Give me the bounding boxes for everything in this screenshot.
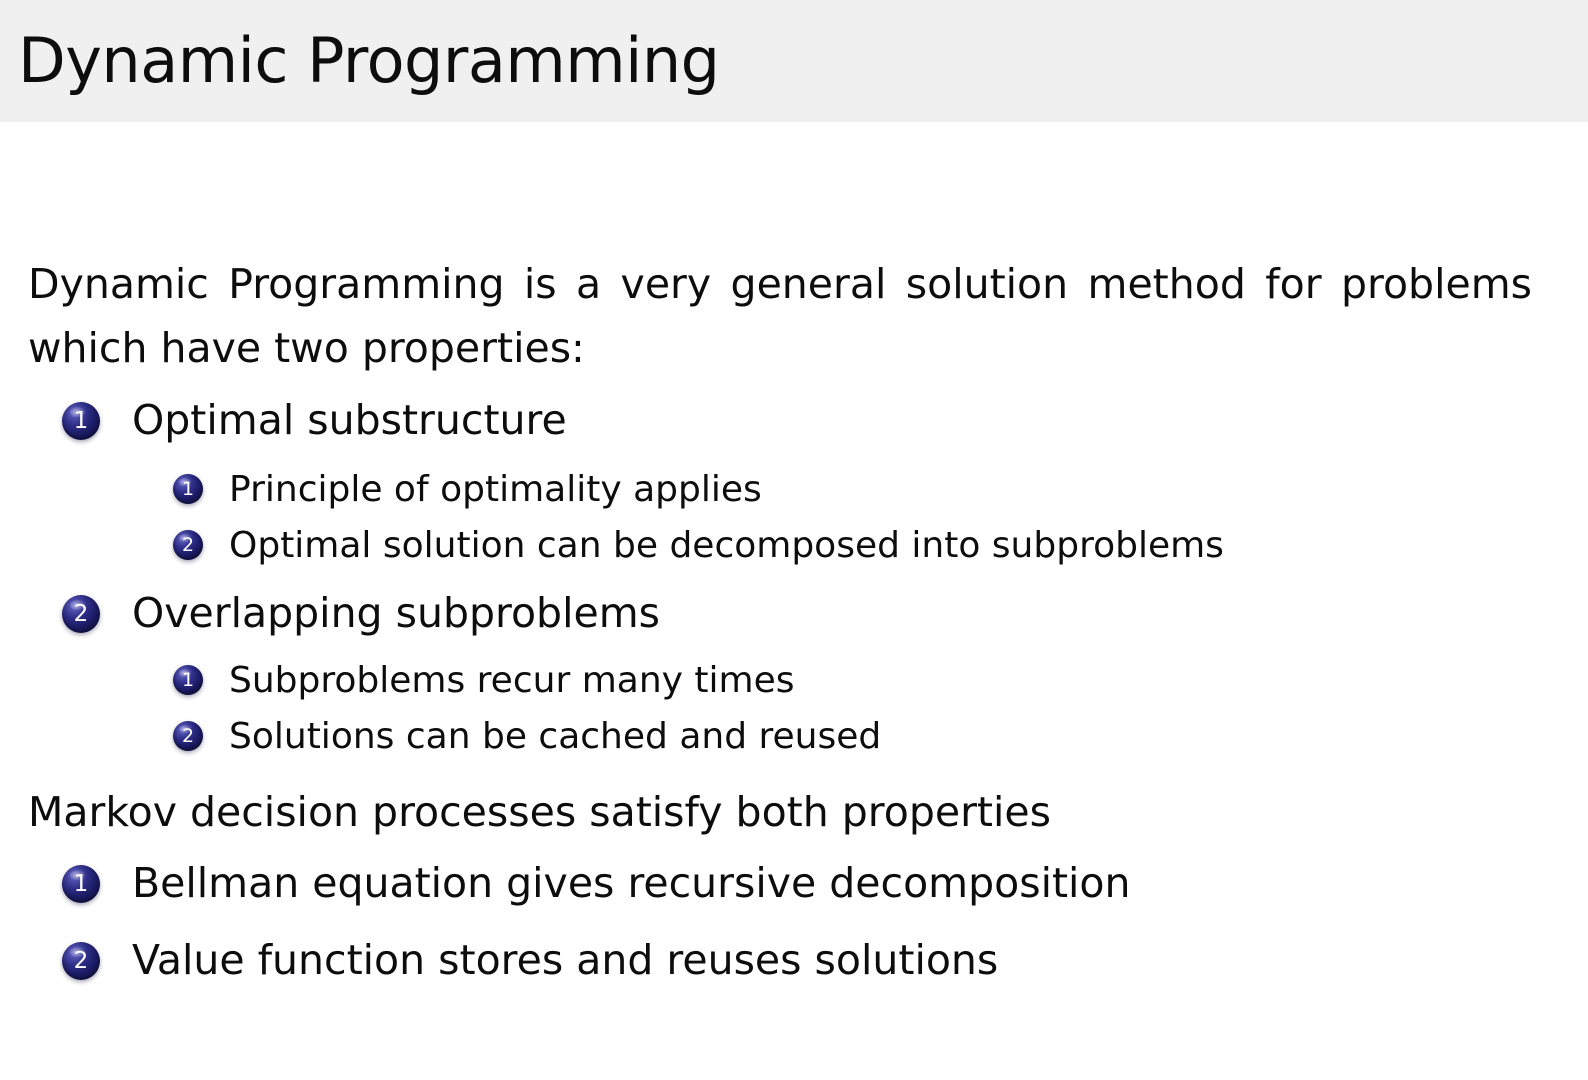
numbered-bullet-icon: 2 [173,530,203,560]
mdp-paragraph: Markov decision processes satisfy both p… [28,780,1532,844]
list-item: 2 Overlapping subproblems [62,587,660,639]
bullet-number: 2 [74,950,89,973]
numbered-bullet-icon: 1 [62,865,100,903]
list-item: 1 Optimal substructure [62,394,567,446]
list-item-label: Optimal solution can be decomposed into … [229,523,1224,568]
page-title: Dynamic Programming [18,18,720,104]
list-item-label: Principle of optimality applies [229,467,762,512]
list-item: 1 Bellman equation gives recursive decom… [62,857,1131,909]
numbered-bullet-icon: 1 [62,402,100,440]
list-item: 1 Principle of optimality applies [173,467,762,512]
list-item-label: Bellman equation gives recursive decompo… [132,857,1131,909]
bullet-number: 1 [182,480,194,499]
numbered-bullet-icon: 2 [173,721,203,751]
list-item-label: Optimal substructure [132,394,567,446]
list-item-label: Solutions can be cached and reused [229,714,881,759]
numbered-bullet-icon: 2 [62,595,100,633]
list-item-label: Subproblems recur many times [229,658,794,703]
list-item: 1 Subproblems recur many times [173,658,794,703]
numbered-bullet-icon: 1 [173,665,203,695]
list-item: 2 Solutions can be cached and reused [173,714,881,759]
slide-title-band: Dynamic Programming [0,0,1588,122]
list-item: 2 Value function stores and reuses solut… [62,934,998,986]
presentation-slide: Dynamic Programming Dynamic Programming … [0,0,1588,1080]
bullet-number: 1 [182,671,194,690]
bullet-number: 2 [74,603,89,626]
bullet-number: 2 [182,727,194,746]
list-item-label: Value function stores and reuses solutio… [132,934,998,986]
bullet-number: 2 [182,536,194,555]
list-item-label: Overlapping subproblems [132,587,660,639]
intro-paragraph: Dynamic Programming is a very general so… [28,252,1532,380]
list-item: 2 Optimal solution can be decomposed int… [173,523,1224,568]
numbered-bullet-icon: 1 [173,474,203,504]
numbered-bullet-icon: 2 [62,942,100,980]
bullet-number: 1 [74,410,89,433]
bullet-number: 1 [74,873,89,896]
